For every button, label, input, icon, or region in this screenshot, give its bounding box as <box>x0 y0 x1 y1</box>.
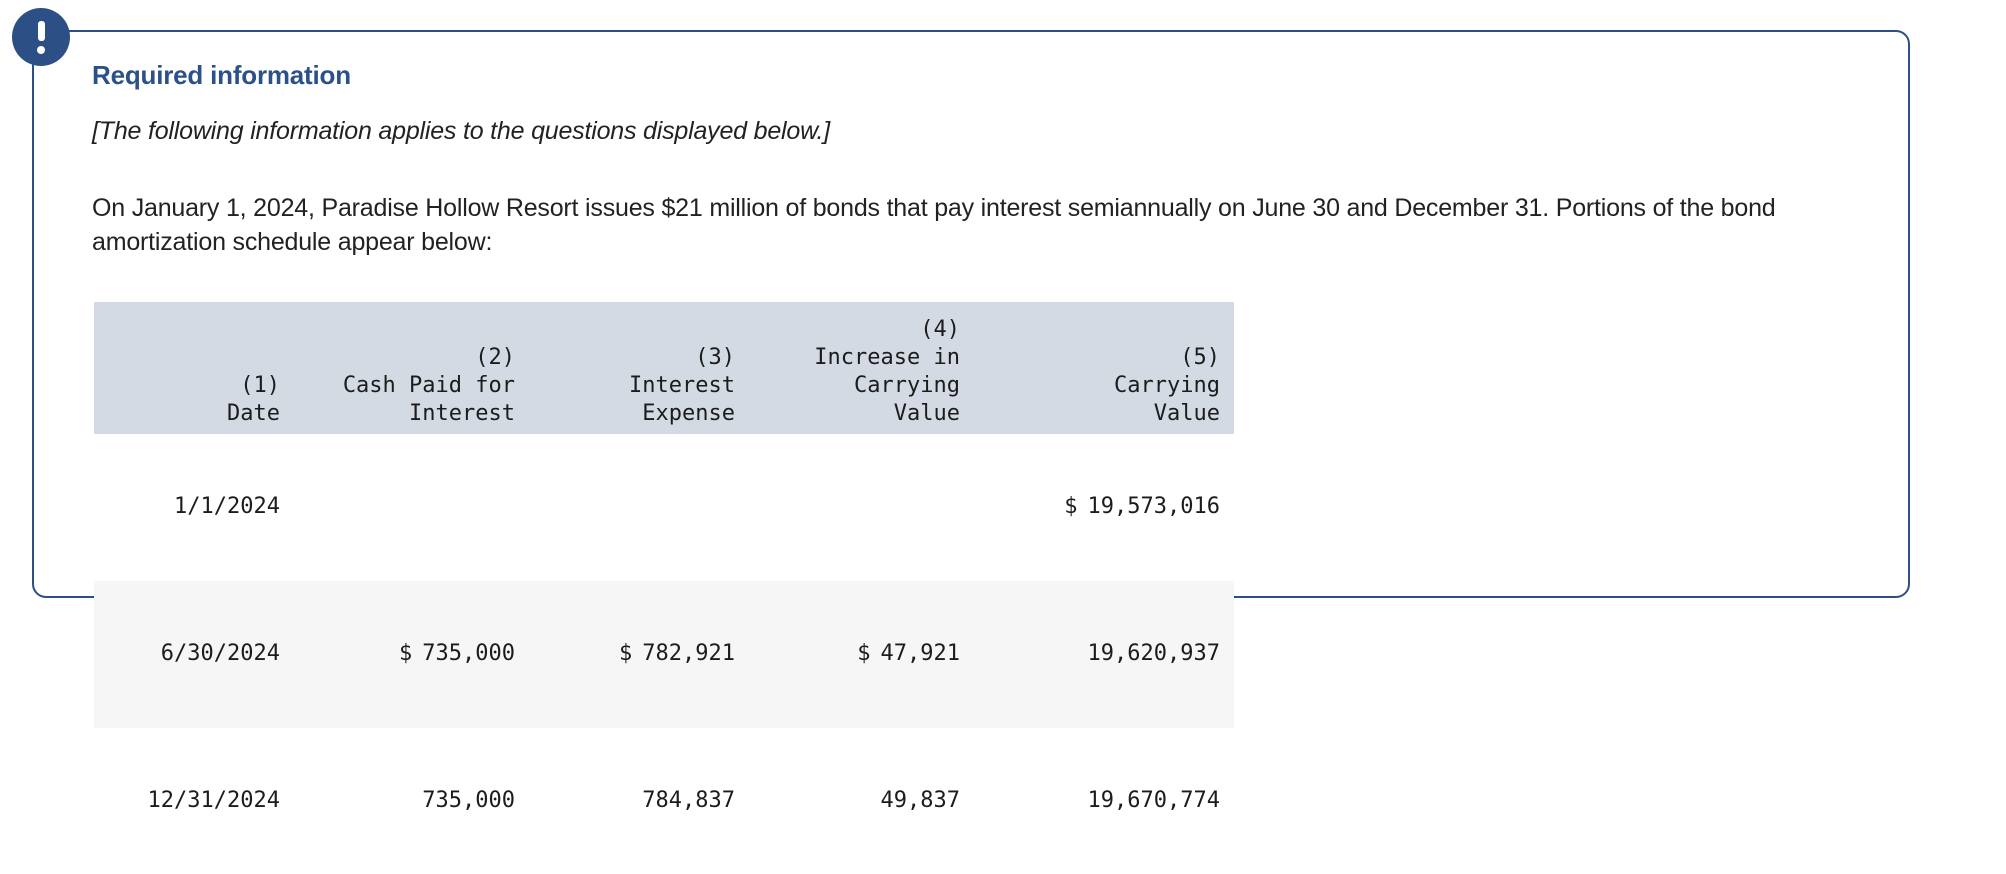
amount: 782,921 <box>642 640 735 669</box>
column-header-cash-paid-text: (2) Cash Paid for Interest <box>343 345 515 426</box>
amount: 735,000 <box>422 787 515 816</box>
table-row: 1/1/2024 <box>94 434 1234 581</box>
column-header-carrying-value-text: (5) Carrying Value <box>1114 345 1220 426</box>
currency-symbol: $ <box>857 640 870 669</box>
exclamation-stem <box>38 21 45 41</box>
cell-increase-in-carrying-value: 49,837 <box>749 728 974 874</box>
table-header: (1) Date (2) Cash Paid for Interest (3) … <box>94 302 1234 434</box>
amortization-table-wrap: (1) Date (2) Cash Paid for Interest (3) … <box>94 302 1878 874</box>
amount: 47,921 <box>881 640 960 669</box>
amount: 735,000 <box>422 640 515 669</box>
table-header-row: (1) Date (2) Cash Paid for Interest (3) … <box>94 316 1234 434</box>
required-information-card: Required information [The following info… <box>32 30 1910 598</box>
cell-interest-expense-money: $ 782,921 <box>543 640 735 669</box>
spacer-cell-2 <box>294 302 529 316</box>
cell-interest-expense <box>529 434 749 581</box>
table-header-spacer-row <box>94 302 1234 316</box>
spacer-cell-4 <box>749 302 974 316</box>
table-row: 6/30/2024 $ 735,000 $ 782,921 <box>94 581 1234 728</box>
card-body: Required information [The following info… <box>92 60 1878 874</box>
applies-to-note: [The following information applies to th… <box>92 116 1878 147</box>
cell-carrying-value: $ 19,573,016 <box>974 434 1234 581</box>
amount: 19,573,016 <box>1088 493 1220 522</box>
amount: 19,670,774 <box>1088 787 1220 816</box>
spacer-cell-3 <box>529 302 749 316</box>
currency-symbol: $ <box>399 640 412 669</box>
cell-carrying-value: 19,670,774 <box>974 728 1234 874</box>
cell-interest-expense: 784,837 <box>529 728 749 874</box>
cell-cash-paid: $ 735,000 <box>294 581 529 728</box>
currency-symbol: $ <box>619 640 632 669</box>
cell-carrying-value-money: $ 19,573,016 <box>988 493 1220 522</box>
cell-cash-paid: 735,000 <box>294 728 529 874</box>
column-header-date-text: (1) Date <box>227 373 280 426</box>
bond-amortization-table: (1) Date (2) Cash Paid for Interest (3) … <box>94 302 1234 874</box>
cell-cash-paid-money: 735,000 <box>308 787 515 816</box>
cell-interest-expense-money: 784,837 <box>543 787 735 816</box>
column-header-date: (1) Date <box>94 316 294 434</box>
column-header-cash-paid-for-interest: (2) Cash Paid for Interest <box>294 316 529 434</box>
column-header-increase-in-carrying-value: (4) Increase in Carrying Value <box>749 316 974 434</box>
cell-carrying-value-money: 19,670,774 <box>988 787 1220 816</box>
spacer-cell-5 <box>974 302 1234 316</box>
column-header-carrying-value: (5) Carrying Value <box>974 316 1234 434</box>
cell-carrying-value-money: 19,620,937 <box>988 640 1220 669</box>
cell-cash-paid-money: $ 735,000 <box>308 640 515 669</box>
cell-date: 1/1/2024 <box>94 434 294 581</box>
cell-carrying-value: 19,620,937 <box>974 581 1234 728</box>
exclamation-dot <box>37 46 45 54</box>
problem-statement: On January 1, 2024, Paradise Hollow Reso… <box>92 192 1792 260</box>
page-root: Required information [The following info… <box>0 0 2006 635</box>
cell-interest-expense: $ 782,921 <box>529 581 749 728</box>
table-body: 1/1/2024 <box>94 434 1234 874</box>
cell-date: 6/30/2024 <box>94 581 294 728</box>
cell-date: 12/31/2024 <box>94 728 294 874</box>
cell-increase-in-carrying-value <box>749 434 974 581</box>
cell-cash-paid <box>294 434 529 581</box>
currency-symbol: $ <box>1064 493 1077 522</box>
amount: 49,837 <box>881 787 960 816</box>
column-header-increase-text: (4) Increase in Carrying Value <box>814 317 960 426</box>
column-header-interest-expense-text: (3) Interest Expense <box>629 345 735 426</box>
amount: 784,837 <box>642 787 735 816</box>
amount: 19,620,937 <box>1088 640 1220 669</box>
cell-increase-money: 49,837 <box>763 787 960 816</box>
table-row: 12/31/2024 735,000 784,837 <box>94 728 1234 874</box>
cell-increase-money: $ 47,921 <box>763 640 960 669</box>
exclamation-icon <box>12 8 70 66</box>
cell-increase-in-carrying-value: $ 47,921 <box>749 581 974 728</box>
column-header-interest-expense: (3) Interest Expense <box>529 316 749 434</box>
page-title: Required information <box>92 60 1878 91</box>
spacer-cell-1 <box>94 302 294 316</box>
